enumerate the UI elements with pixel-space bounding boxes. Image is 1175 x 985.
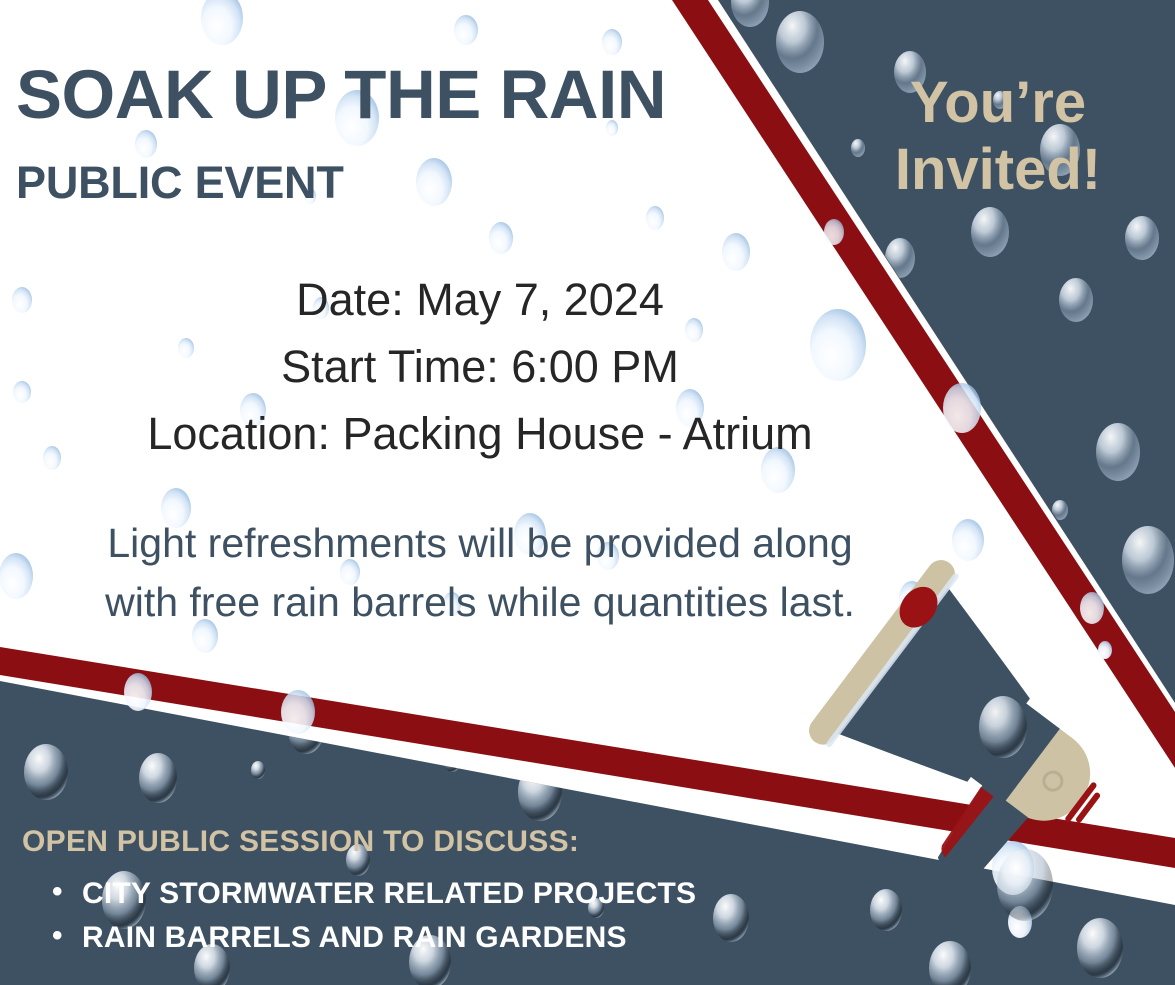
list-item: CITY STORMWATER RELATED PROJECTS <box>82 872 696 916</box>
event-location: Location: Packing House - Atrium <box>0 400 960 467</box>
session-heading: OPEN PUBLIC SESSION TO DISCUSS: <box>22 825 579 859</box>
refreshments-note: Light refreshments will be provided alon… <box>0 514 960 631</box>
page-title: SOAK UP THE RAIN <box>16 62 756 129</box>
page-subtitle: PUBLIC EVENT <box>16 160 344 205</box>
event-details: Date: May 7, 2024 Start Time: 6:00 PM Lo… <box>0 266 960 467</box>
invite-line-2: Invited! <box>838 137 1158 204</box>
invite-badge: You’re Invited! <box>838 70 1158 203</box>
flyer-canvas: SOAK UP THE RAIN PUBLIC EVENT You’re Inv… <box>0 0 1175 985</box>
refreshments-line-2: with free rain barrels while quantities … <box>0 573 960 632</box>
list-item: RAIN BARRELS AND RAIN GARDENS <box>82 916 696 960</box>
event-start-time: Start Time: 6:00 PM <box>0 333 960 400</box>
session-topic-list: CITY STORMWATER RELATED PROJECTS RAIN BA… <box>44 872 696 961</box>
refreshments-line-1: Light refreshments will be provided alon… <box>0 514 960 573</box>
event-date: Date: May 7, 2024 <box>0 266 960 333</box>
invite-line-1: You’re <box>838 70 1158 137</box>
